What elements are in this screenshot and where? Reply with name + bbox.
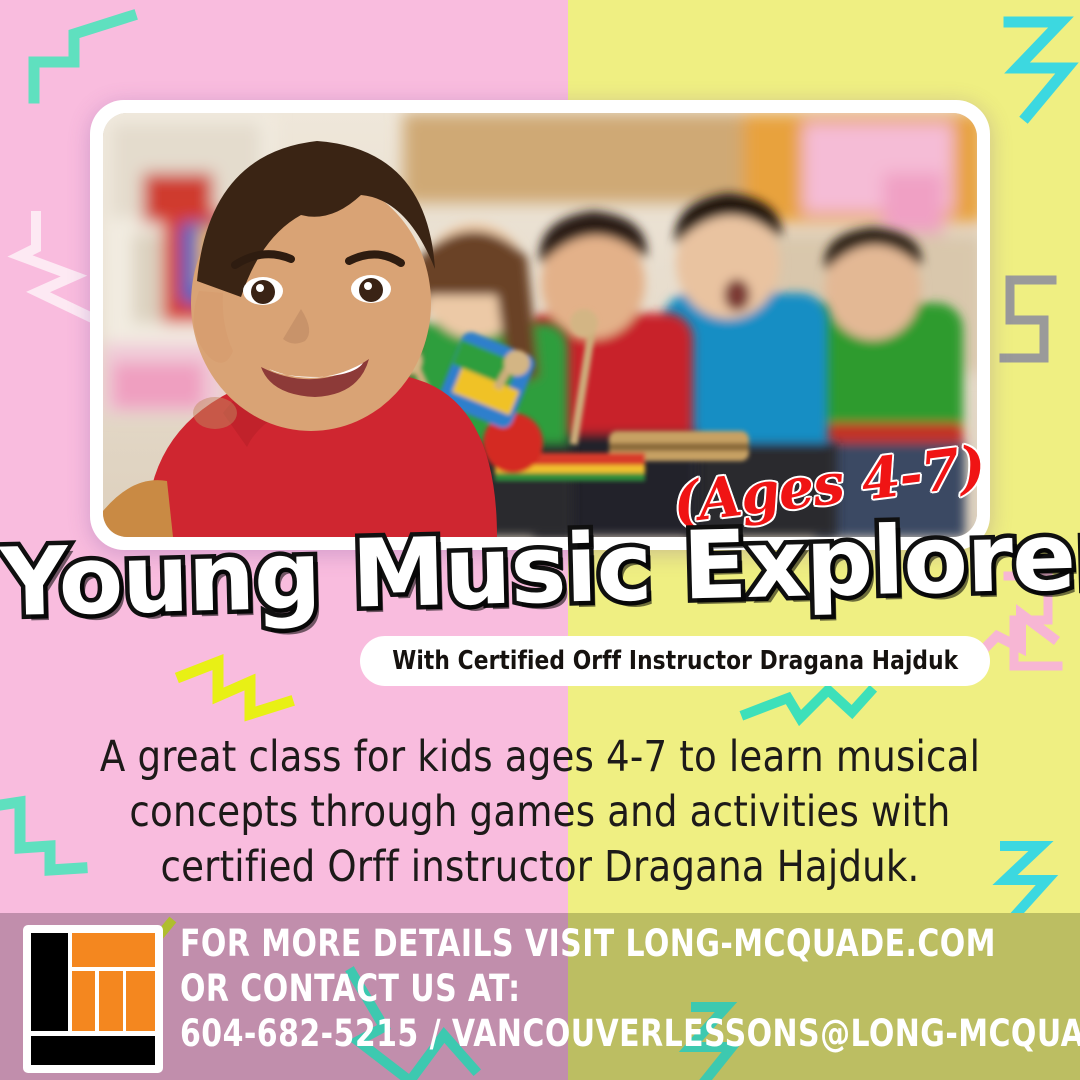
logo-block-left-bar	[31, 933, 68, 1031]
zigzag-gray-icon	[1000, 276, 1080, 386]
description-line-2: concepts through games and activities wi…	[73, 785, 1006, 840]
instructor-pill: With Certified Orff Instructor Dragana H…	[360, 636, 990, 686]
zigzag-cyan-icon	[1005, 16, 1080, 126]
description-text: A great class for kids ages 4-7 to learn…	[54, 730, 1026, 895]
poster-canvas: (Ages 4-7) Young Music Explorers With Ce…	[0, 0, 1080, 1080]
footer-line-website: FOR MORE DETAILS VISIT LONG-MCQUADE.COM	[180, 922, 974, 967]
zigzag-teal-icon	[26, 12, 136, 102]
description-line-1: A great class for kids ages 4-7 to learn…	[73, 730, 1006, 785]
logo-block-column-1	[72, 971, 96, 1030]
logo-block-column-2	[99, 971, 123, 1030]
zigzag-yellow-icon	[178, 652, 308, 732]
footer-line-contact: OR CONTACT US AT:	[180, 967, 974, 1012]
footer-line-phone-email: 604-682-5215 / VANCOUVERLESSONS@LONG-MCQ…	[180, 1012, 974, 1057]
page-title: Young Music Explorers	[0, 511, 1080, 631]
description-line-3: certified Orff instructor Dragana Hajduk…	[73, 840, 1006, 895]
logo-block-column-3	[126, 971, 155, 1030]
logo-block-top-bar	[72, 933, 155, 967]
instructor-pill-label: With Certified Orff Instructor Dragana H…	[392, 646, 958, 676]
logo-block-bottom-bar	[31, 1036, 155, 1065]
footer-contact-text: FOR MORE DETAILS VISIT LONG-MCQUADE.COM …	[180, 922, 1062, 1056]
long-mcquade-logo	[23, 925, 163, 1073]
